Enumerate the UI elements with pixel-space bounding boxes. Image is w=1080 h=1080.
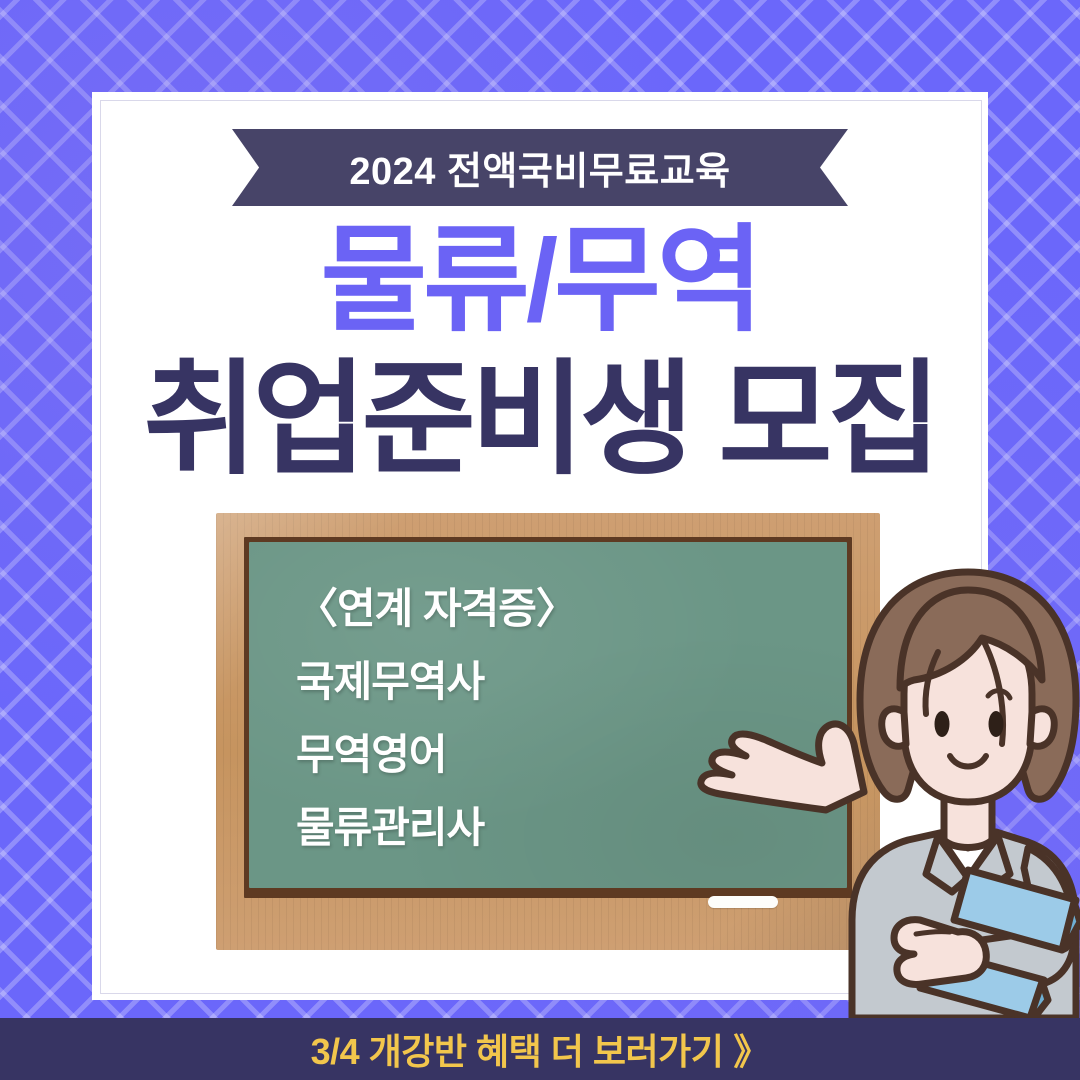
cta-bar[interactable]: 3/4 개강반 혜택 더 보러가기 》 bbox=[0, 1018, 1080, 1080]
double-chevron-right-icon: 》 bbox=[733, 1023, 769, 1075]
ribbon-label: 2024 전액국비무료교육 bbox=[349, 140, 730, 195]
chalkboard-item-1: 무역영어 bbox=[296, 731, 577, 778]
cta-label: 3/4 개강반 혜택 더 보러가기 bbox=[311, 1023, 724, 1075]
poster-root: 2024 전액국비무료교육 물류/무역 취업준비생 모집 〈연계 자격증〉 국제… bbox=[0, 0, 1080, 1080]
ribbon-banner: 2024 전액국비무료교육 bbox=[232, 129, 848, 206]
headline-line-1: 물류/무역 bbox=[0, 222, 1080, 338]
headline-line-2: 취업준비생 모집 bbox=[0, 358, 1080, 482]
instructor-illustration bbox=[676, 548, 1080, 1018]
chalkboard-item-0: 국제무역사 bbox=[296, 658, 577, 705]
chalkboard-text-block: 〈연계 자격증〉 국제무역사 무역영어 물류관리사 bbox=[296, 585, 577, 851]
chalkboard-item-2: 물류관리사 bbox=[296, 804, 577, 851]
chalkboard-title: 〈연계 자격증〉 bbox=[296, 585, 577, 632]
